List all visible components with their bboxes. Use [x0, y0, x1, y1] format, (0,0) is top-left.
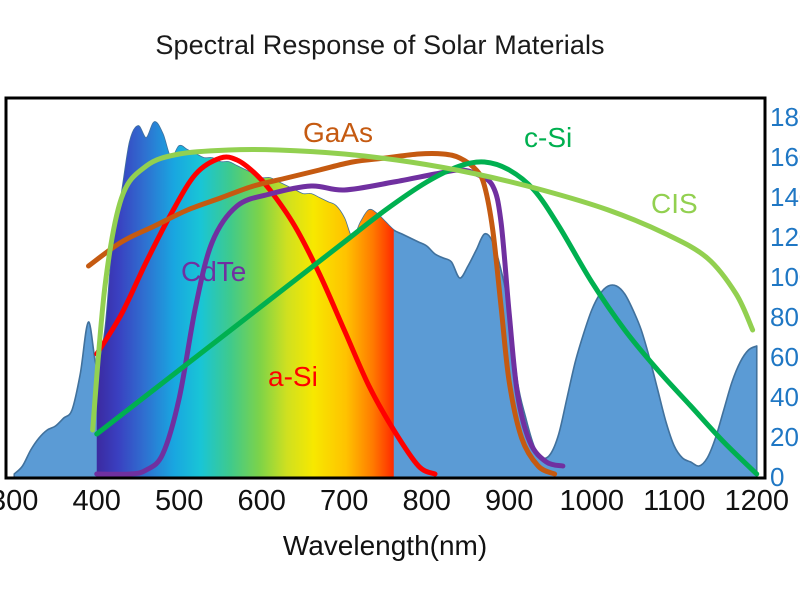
x-tick-label: 400	[57, 487, 137, 516]
y-tick-label: 100	[770, 264, 800, 290]
y-tick-label: 180	[770, 104, 800, 130]
curve-label-cis: CIS	[651, 190, 698, 218]
x-tick-label: 600	[222, 487, 302, 516]
curve-label-csi: c-Si	[524, 124, 572, 152]
y-tick-label: 80	[770, 304, 799, 330]
y-tick-label: 160	[770, 144, 800, 170]
x-tick-label: 700	[304, 487, 384, 516]
x-tick-label: 300	[0, 487, 54, 516]
x-axis-title: Wavelength(nm)	[0, 530, 770, 562]
y-tick-label: 20	[770, 424, 799, 450]
y-tick-label: 140	[770, 184, 800, 210]
curve-label-cdte: CdTe	[181, 258, 246, 286]
x-tick-label: 1100	[634, 487, 714, 516]
x-tick-label: 800	[387, 487, 467, 516]
y-tick-label: 60	[770, 344, 799, 370]
x-tick-label: 500	[139, 487, 219, 516]
chart-canvas: Spectral Response of Solar Materials	[0, 0, 800, 600]
x-tick-label: 1200	[717, 487, 797, 516]
x-tick-label: 900	[469, 487, 549, 516]
y-tick-label: 40	[770, 384, 799, 410]
x-tick-label: 1000	[552, 487, 632, 516]
y-tick-label: 120	[770, 224, 800, 250]
curve-label-asi: a-Si	[268, 363, 318, 391]
curve-label-gaas: GaAs	[303, 119, 373, 147]
